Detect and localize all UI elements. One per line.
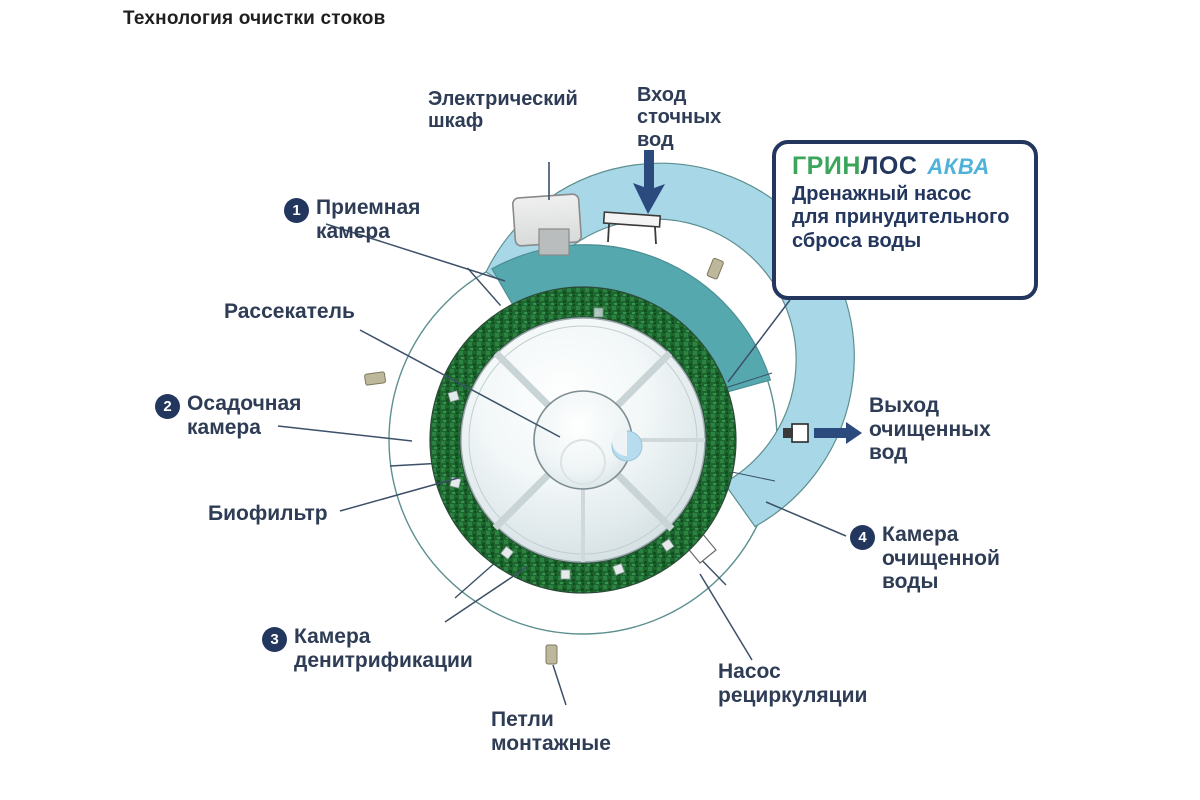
callout-treated-water-outlet: Выход очищенных вод [869,394,991,465]
callout-number-4: 4 [850,525,875,550]
callout-diffuser: Рассекатель [224,300,355,324]
callout-number-1: 1 [284,198,309,223]
brand-wordmark: ГРИНЛОСАКВА [792,154,1020,179]
brand-description: Дренажный насос для принудительного сбро… [792,183,1020,253]
leader-mounting-loops [553,665,566,705]
callout-number-2: 2 [155,394,180,419]
callout-settling-chamber: 2 Осадочная камера [155,392,301,439]
brand-part-los: ЛОС [861,152,918,180]
callout-biofilter: Биофильтр [208,502,328,526]
callout-electrical-cabinet: Электрический шкаф [428,88,578,133]
mounting-loop-left [364,372,385,386]
callout-receiving-chamber: 1 Приемная камера [284,196,420,243]
callout-mounting-loops: Петли монтажные [491,708,611,755]
callout-clean-water-chamber-label: Камера очищенной воды [882,523,1000,594]
brand-part-grin: ГРИН [792,152,861,180]
callout-denitrification-chamber-label: Камера денитрификации [294,625,473,672]
callout-recirculation-pump: Насос рециркуляции [718,660,867,707]
leader-clean-water-chamber [766,502,846,536]
callout-clean-water-chamber: 4 Камера очищенной воды [850,523,1000,594]
brand-part-akva: АКВА [927,154,989,179]
callout-settling-chamber-label: Осадочная камера [187,392,301,439]
callout-receiving-chamber-label: Приемная камера [316,196,420,243]
callout-denitrification-chamber: 3 Камера денитрификации [262,625,473,672]
brand-callout-box: ГРИНЛОСАКВА Дренажный насос для принудит… [772,140,1038,300]
tank-dome-lid [461,318,705,562]
mounting-loop-bottom [546,645,557,664]
leader-recirculation-pump [700,574,752,660]
callout-number-3: 3 [262,627,287,652]
diagram-canvas: Технология очистки стоков [0,0,1200,800]
callout-wastewater-inlet: Вход сточных вод [637,84,721,151]
